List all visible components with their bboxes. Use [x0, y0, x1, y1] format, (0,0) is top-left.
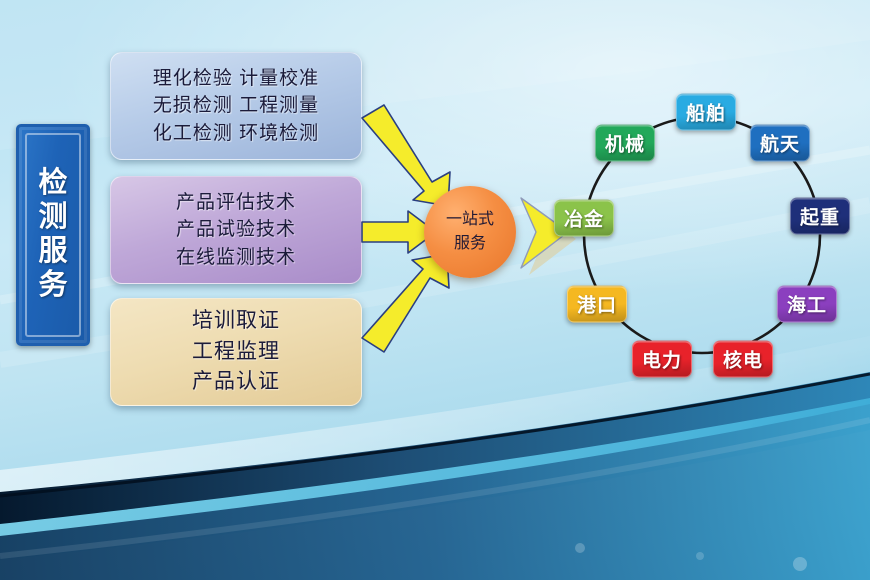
industry-ring-path	[0, 0, 870, 580]
ring-node-label: 港口	[577, 296, 617, 317]
diagram-canvas: 检 测 服 务 理化检验 计量校准 无损检测 工程测量 化工检测 环境检测 产品…	[0, 0, 870, 580]
ring-node-label: 起重	[800, 208, 840, 229]
ring-node-label: 核电	[723, 351, 763, 372]
ring-node-label: 冶金	[564, 210, 604, 231]
ring-node-port[interactable]: 港口	[567, 286, 627, 323]
ring-node-offshore[interactable]: 海工	[777, 286, 837, 323]
ring-node-label: 船舶	[686, 104, 726, 125]
ring-node-nuclear-power[interactable]: 核电	[713, 341, 773, 378]
ring-node-label: 电力	[642, 351, 682, 372]
ring-node-lifting[interactable]: 起重	[790, 198, 850, 235]
ring-node-electric-power[interactable]: 电力	[632, 341, 692, 378]
ring-node-machinery[interactable]: 机械	[595, 125, 655, 162]
ring-node-label: 机械	[605, 135, 645, 156]
ring-node-label: 航天	[760, 135, 800, 156]
ring-node-aerospace[interactable]: 航天	[750, 125, 810, 162]
ring-node-metallurgy[interactable]: 冶金	[554, 200, 614, 237]
ring-node-label: 海工	[787, 296, 827, 317]
ring-node-shipbuilding[interactable]: 船舶	[676, 94, 736, 131]
